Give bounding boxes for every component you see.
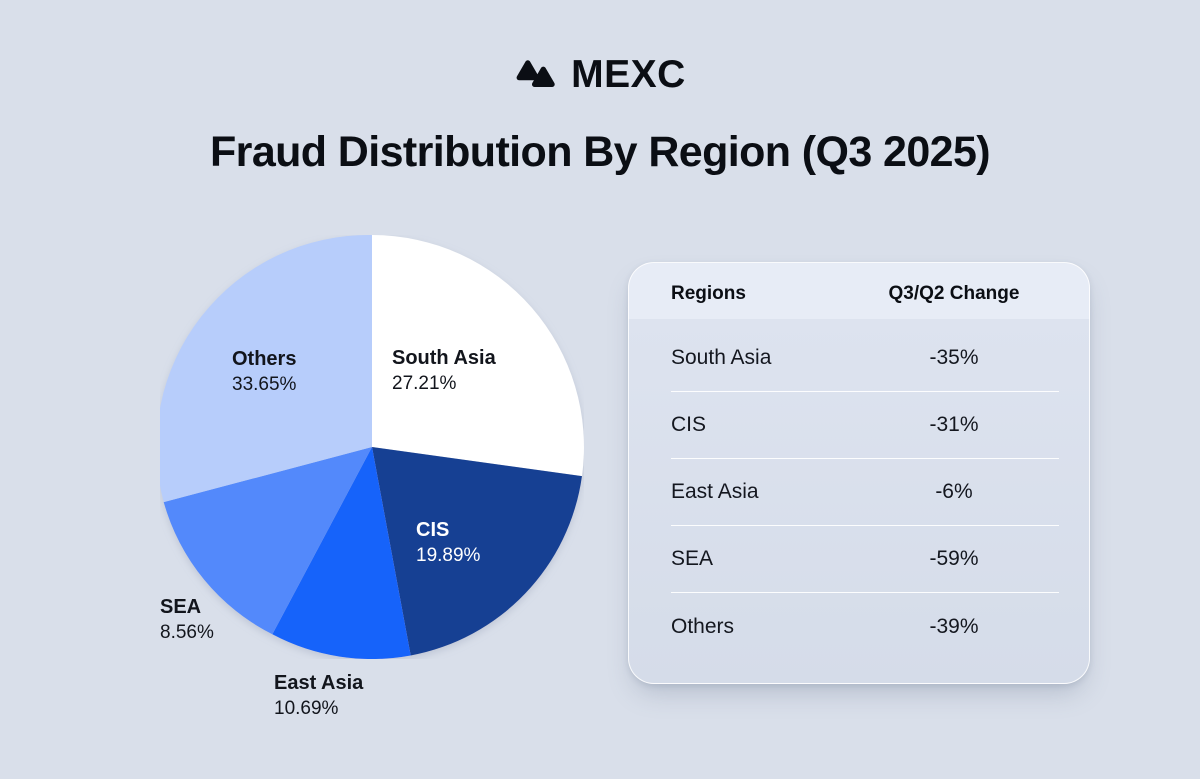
table-row: SEA -59% — [671, 526, 1059, 593]
pie-label-sea: SEA 8.56% — [160, 595, 214, 645]
brand-name: MEXC — [571, 55, 686, 94]
regions-table-card: Regions Q3/Q2 Change South Asia -35% CIS… — [628, 262, 1090, 684]
pie-label-cis: CIS 19.89% — [416, 518, 480, 568]
pie-label-others-value: 33.65% — [232, 373, 296, 397]
table-body: South Asia -35% CIS -31% East Asia -6% S… — [629, 325, 1089, 660]
table-cell-change: -39% — [849, 615, 1059, 639]
table-header-regions: Regions — [671, 283, 849, 305]
pie-label-east-asia-name: East Asia — [274, 671, 363, 697]
pie-label-east-asia-value: 10.69% — [274, 697, 363, 721]
table-header-change: Q3/Q2 Change — [849, 283, 1059, 305]
table-cell-change: -35% — [849, 346, 1059, 370]
table-cell-region: East Asia — [671, 480, 849, 504]
pie-label-others: Others 33.65% — [232, 347, 296, 397]
table-cell-region: South Asia — [671, 346, 849, 370]
table-row: South Asia -35% — [671, 325, 1059, 392]
pie-svg — [160, 235, 584, 659]
pie-graphic — [160, 235, 584, 659]
pie-label-south-asia: South Asia 27.21% — [392, 346, 496, 396]
table-cell-region: Others — [671, 615, 849, 639]
table-cell-region: CIS — [671, 413, 849, 437]
table-header-row: Regions Q3/Q2 Change — [629, 263, 1089, 325]
page-title: Fraud Distribution By Region (Q3 2025) — [0, 128, 1200, 177]
table-cell-change: -59% — [849, 547, 1059, 571]
pie-label-others-name: Others — [232, 347, 296, 373]
table-cell-change: -6% — [849, 480, 1059, 504]
table-row: Others -39% — [671, 593, 1059, 660]
table-cell-region: SEA — [671, 547, 849, 571]
pie-label-east-asia: East Asia 10.69% — [274, 671, 363, 721]
table-row: CIS -31% — [671, 392, 1059, 459]
brand-logo: MEXC — [0, 50, 1200, 98]
pie-label-south-asia-value: 27.21% — [392, 372, 496, 396]
pie-label-south-asia-name: South Asia — [392, 346, 496, 372]
pie-label-cis-name: CIS — [416, 518, 480, 544]
table-row: East Asia -6% — [671, 459, 1059, 526]
mexc-mountain-logo-icon — [514, 59, 558, 89]
pie-chart: Others 33.65% South Asia 27.21% CIS 19.8… — [60, 215, 620, 735]
pie-label-sea-name: SEA — [160, 595, 214, 621]
table-cell-change: -31% — [849, 413, 1059, 437]
pie-label-sea-value: 8.56% — [160, 621, 214, 645]
pie-label-cis-value: 19.89% — [416, 544, 480, 568]
